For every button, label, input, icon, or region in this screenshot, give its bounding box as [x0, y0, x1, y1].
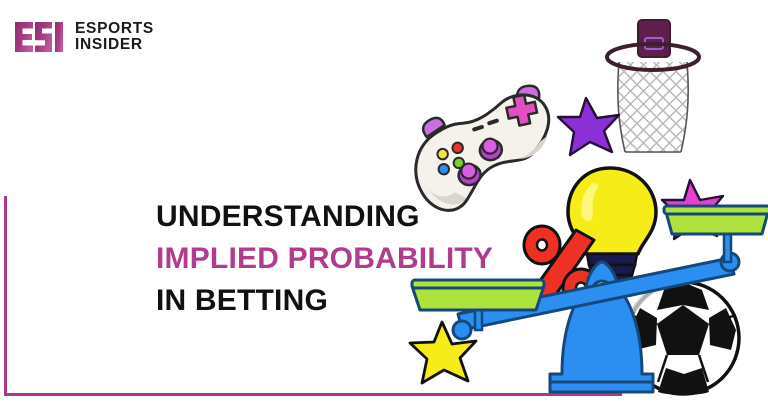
esi-wordmark-line-2: INSIDER [75, 37, 154, 53]
esi-wordmark: ESPORTS INSIDER [75, 21, 154, 53]
esi-logo[interactable]: ESPORTS INSIDER [14, 20, 154, 54]
illustration-collage [390, 0, 768, 410]
esi-wordmark-line-1: ESPORTS [75, 21, 154, 37]
star-purple-icon [558, 98, 619, 155]
banner-canvas: ESPORTS INSIDER UNDERSTANDING IMPLIED PR… [0, 0, 768, 410]
game-controller-icon [403, 83, 564, 216]
esi-logo-mark [14, 20, 66, 54]
left-accent-rule [4, 196, 7, 396]
basketball-hoop-icon [607, 20, 699, 158]
